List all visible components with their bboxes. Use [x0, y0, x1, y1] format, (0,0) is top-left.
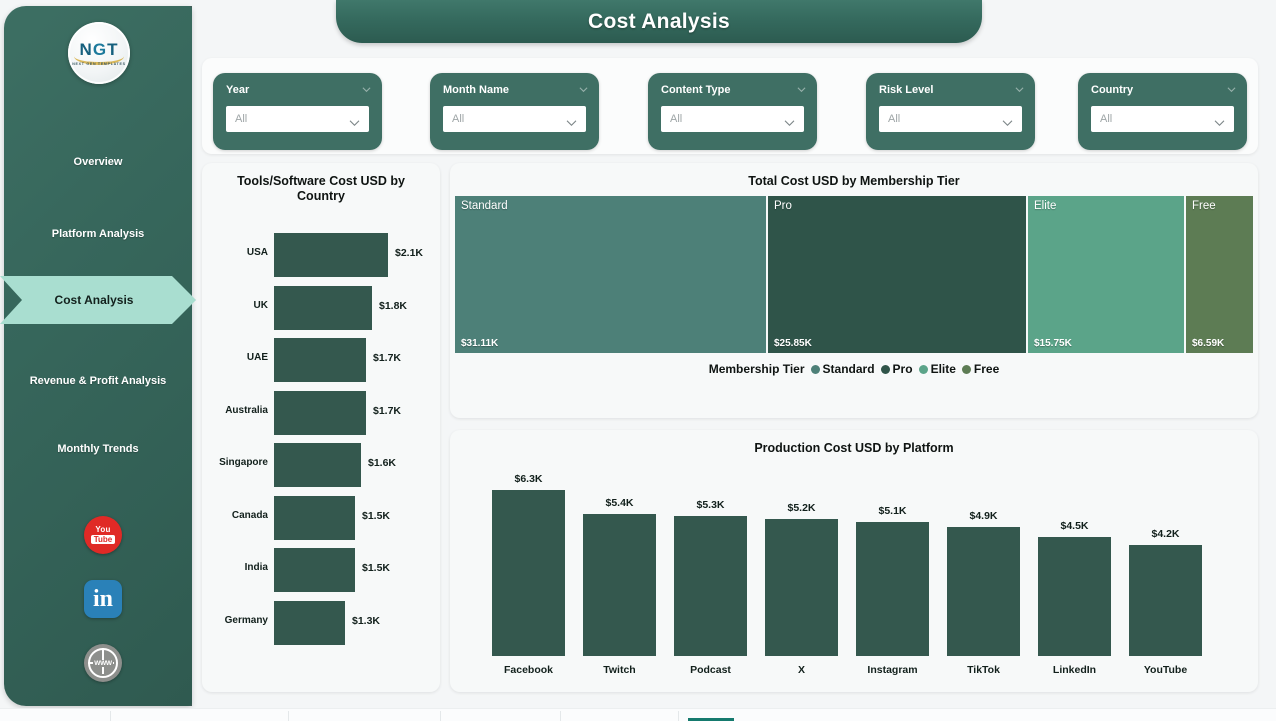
chart-title: Total Cost USD by Membership Tier — [450, 174, 1258, 189]
treemap-plot-area: Standard$31.11KPro$25.85KElite$15.75KFre… — [455, 196, 1253, 353]
treemap-tile[interactable]: Pro$25.85K — [768, 196, 1028, 353]
sidebar-item-overview[interactable]: Overview — [4, 148, 192, 176]
bar-category-label: India — [202, 562, 268, 573]
bar-row[interactable]: Australia$1.7K — [202, 387, 440, 439]
slicer-value: All — [452, 113, 464, 125]
slicer-month-name[interactable]: Month Name All — [430, 73, 599, 150]
bar-category-label: Podcast — [674, 664, 747, 676]
chevron-down-icon[interactable] — [579, 85, 588, 94]
bar[interactable] — [274, 496, 355, 540]
sidebar-item-platform-analysis[interactable]: Platform Analysis — [4, 220, 192, 248]
treemap-tile-label: Pro — [774, 200, 792, 212]
slicer-value: All — [670, 113, 682, 125]
slicer-title: Month Name — [443, 84, 509, 96]
bar-row[interactable]: UK$1.8K — [202, 282, 440, 334]
bar-value-label: $1.3K — [352, 615, 380, 627]
treemap-tile-value: $31.11K — [461, 338, 498, 349]
globe-shape: WWW — [88, 648, 118, 678]
bar-value-label: $4.2K — [1129, 528, 1202, 540]
logo-mark: NGT — [80, 41, 119, 58]
bar-category-label: Facebook — [492, 664, 565, 676]
bar-category-label: X — [765, 664, 838, 676]
chevron-down-icon[interactable] — [1227, 85, 1236, 94]
bar-category-label: LinkedIn — [1038, 664, 1111, 676]
treemap-tile[interactable]: Standard$31.11K — [455, 196, 768, 353]
legend-title: Membership Tier — [709, 362, 805, 376]
page-title: Cost Analysis — [588, 10, 730, 34]
slicer-title: Content Type — [661, 84, 730, 96]
treemap-tile-value: $25.85K — [774, 338, 812, 349]
bar-value-label: $5.4K — [583, 497, 656, 509]
slicer-dropdown[interactable]: All — [661, 106, 804, 132]
slicer-content-type[interactable]: Content Type All — [648, 73, 817, 150]
bar[interactable] — [583, 514, 656, 656]
bar-category-label: Singapore — [202, 457, 268, 468]
bar-row[interactable]: UAE$1.7K — [202, 334, 440, 386]
bar[interactable] — [274, 548, 355, 592]
treemap-tile[interactable]: Elite$15.75K — [1028, 196, 1186, 353]
legend-item[interactable]: Free — [962, 362, 999, 376]
bar-value-label: $1.8K — [379, 300, 407, 312]
bar-value-label: $6.3K — [492, 473, 565, 485]
bar-value-label: $5.3K — [674, 499, 747, 511]
legend-item[interactable]: Standard — [811, 362, 875, 376]
legend-swatch — [881, 365, 890, 374]
bar[interactable] — [274, 443, 361, 487]
legend-swatch — [811, 365, 820, 374]
sidebar-item-revenue-profit-analysis[interactable]: Revenue & Profit Analysis — [4, 363, 192, 399]
legend-swatch — [962, 365, 971, 374]
bar-category-label: Twitch — [583, 664, 656, 676]
bar[interactable] — [1038, 537, 1111, 656]
sidebar-item-label: Overview — [74, 156, 123, 169]
chart-total-cost-by-membership-tier: Total Cost USD by Membership Tier Standa… — [450, 163, 1258, 418]
legend-label: Free — [974, 362, 999, 376]
bar-row[interactable]: India$1.5K — [202, 544, 440, 596]
bar-row[interactable]: Germany$1.3K — [202, 597, 440, 649]
slicer-title: Country — [1091, 84, 1133, 96]
bar-row[interactable]: USA$2.1K — [202, 229, 440, 281]
page-tab-strip[interactable] — [0, 708, 1276, 721]
bar-category-label: Canada — [202, 510, 268, 521]
slicer-dropdown[interactable]: All — [443, 106, 586, 132]
sidebar-nav: NGT NEXT GEN TEMPLATES Overview Platform… — [4, 6, 192, 706]
treemap-tile-value: $6.59K — [1192, 338, 1224, 349]
treemap-tile-label: Free — [1192, 200, 1216, 212]
bar[interactable] — [856, 522, 929, 656]
treemap-tile[interactable]: Free$6.59K — [1186, 196, 1253, 353]
linkedin-icon-glyph: in — [93, 587, 113, 611]
chart-title: Production Cost USD by Platform — [450, 441, 1258, 456]
slicer-country[interactable]: Country All — [1078, 73, 1247, 150]
youtube-icon-bottom: Tube — [91, 535, 116, 544]
website-icon-glyph: WWW — [93, 660, 113, 667]
bar[interactable] — [274, 391, 366, 435]
chevron-down-icon[interactable] — [362, 85, 371, 94]
slicer-risk-level[interactable]: Risk Level All — [866, 73, 1035, 150]
bar-category-label: TikTok — [947, 664, 1020, 676]
bar-value-label: $5.2K — [765, 502, 838, 514]
bar-category-label: Instagram — [856, 664, 929, 676]
slicer-title: Year — [226, 84, 249, 96]
bar-value-label: $1.7K — [373, 405, 401, 417]
slicer-value: All — [235, 113, 247, 125]
bar-category-label: YouTube — [1129, 664, 1202, 676]
bar[interactable] — [1129, 545, 1202, 656]
bar-category-label: Australia — [202, 405, 268, 416]
bar-value-label: $4.5K — [1038, 520, 1111, 532]
bar-value-label: $1.5K — [362, 562, 390, 574]
legend-item[interactable]: Pro — [881, 362, 913, 376]
logo-subtitle: NEXT GEN TEMPLATES — [72, 62, 125, 66]
bar-row[interactable]: Canada$1.5K — [202, 492, 440, 544]
linkedin-icon[interactable]: in — [84, 580, 122, 618]
bar[interactable] — [947, 527, 1020, 656]
chevron-down-icon[interactable] — [784, 114, 795, 123]
youtube-icon[interactable]: You Tube — [84, 516, 122, 554]
chevron-down-icon[interactable] — [1002, 114, 1013, 123]
treemap-tile-value: $15.75K — [1034, 338, 1072, 349]
treemap-tile-label: Elite — [1034, 200, 1056, 212]
chart-tools-cost-by-country: Tools/Software Cost USD by Country USA$2… — [202, 163, 440, 692]
page-title-banner: Cost Analysis — [336, 0, 982, 43]
bar-value-label: $1.5K — [362, 510, 390, 522]
bar-value-label: $1.7K — [373, 352, 401, 364]
sidebar-item-label: Revenue & Profit Analysis — [30, 375, 167, 388]
chart-legend: Membership TierStandardProEliteFree — [450, 362, 1258, 376]
sidebar-item-monthly-trends[interactable]: Monthly Trends — [4, 435, 192, 463]
chevron-down-icon[interactable] — [797, 85, 806, 94]
youtube-icon-top: You — [95, 526, 110, 534]
slicer-value: All — [888, 113, 900, 125]
bar-value-label: $4.9K — [947, 510, 1020, 522]
legend-label: Elite — [931, 362, 956, 376]
bar-value-label: $1.6K — [368, 457, 396, 469]
slicer-year[interactable]: Year All — [213, 73, 382, 150]
legend-label: Pro — [893, 362, 913, 376]
slicer-dropdown[interactable]: All — [226, 106, 369, 132]
slicer-title: Risk Level — [879, 84, 933, 96]
bar-value-label: $5.1K — [856, 505, 929, 517]
bar-category-label: UAE — [202, 352, 268, 363]
ngt-logo: NGT NEXT GEN TEMPLATES — [68, 22, 130, 84]
slicer-dropdown[interactable]: All — [1091, 106, 1234, 132]
treemap-tile-label: Standard — [461, 200, 508, 212]
chevron-down-icon[interactable] — [1214, 114, 1225, 123]
bar[interactable] — [492, 490, 565, 656]
chevron-down-icon[interactable] — [349, 114, 360, 123]
legend-label: Standard — [823, 362, 875, 376]
chevron-down-icon[interactable] — [1015, 85, 1024, 94]
bar[interactable] — [674, 516, 747, 656]
legend-item[interactable]: Elite — [919, 362, 956, 376]
bar[interactable] — [765, 519, 838, 656]
bar[interactable] — [274, 286, 372, 330]
sidebar-item-cost-analysis[interactable]: Cost Analysis — [0, 276, 196, 324]
sidebar-item-label: Cost Analysis — [55, 293, 134, 307]
sidebar-item-label: Monthly Trends — [57, 443, 138, 456]
bar-value-label: $2.1K — [395, 247, 423, 259]
chevron-down-icon[interactable] — [566, 114, 577, 123]
slicer-panel: Year All Month Name All — [202, 58, 1258, 154]
legend-swatch — [919, 365, 928, 374]
bar-category-label: Germany — [202, 615, 268, 626]
sidebar-item-label: Platform Analysis — [52, 228, 145, 241]
website-icon[interactable]: WWW — [84, 644, 122, 682]
chart-production-cost-by-platform: Production Cost USD by Platform $6.3KFac… — [450, 430, 1258, 692]
bar-category-label: UK — [202, 300, 268, 311]
bar[interactable] — [274, 338, 366, 382]
report-page: NGT NEXT GEN TEMPLATES Overview Platform… — [0, 0, 1276, 720]
slicer-dropdown[interactable]: All — [879, 106, 1022, 132]
bar[interactable] — [274, 601, 345, 645]
bar[interactable] — [274, 233, 388, 277]
slicer-value: All — [1100, 113, 1112, 125]
chart-title: Tools/Software Cost USD by Country — [202, 174, 440, 204]
bar-category-label: USA — [202, 247, 268, 258]
bar-row[interactable]: Singapore$1.6K — [202, 439, 440, 491]
